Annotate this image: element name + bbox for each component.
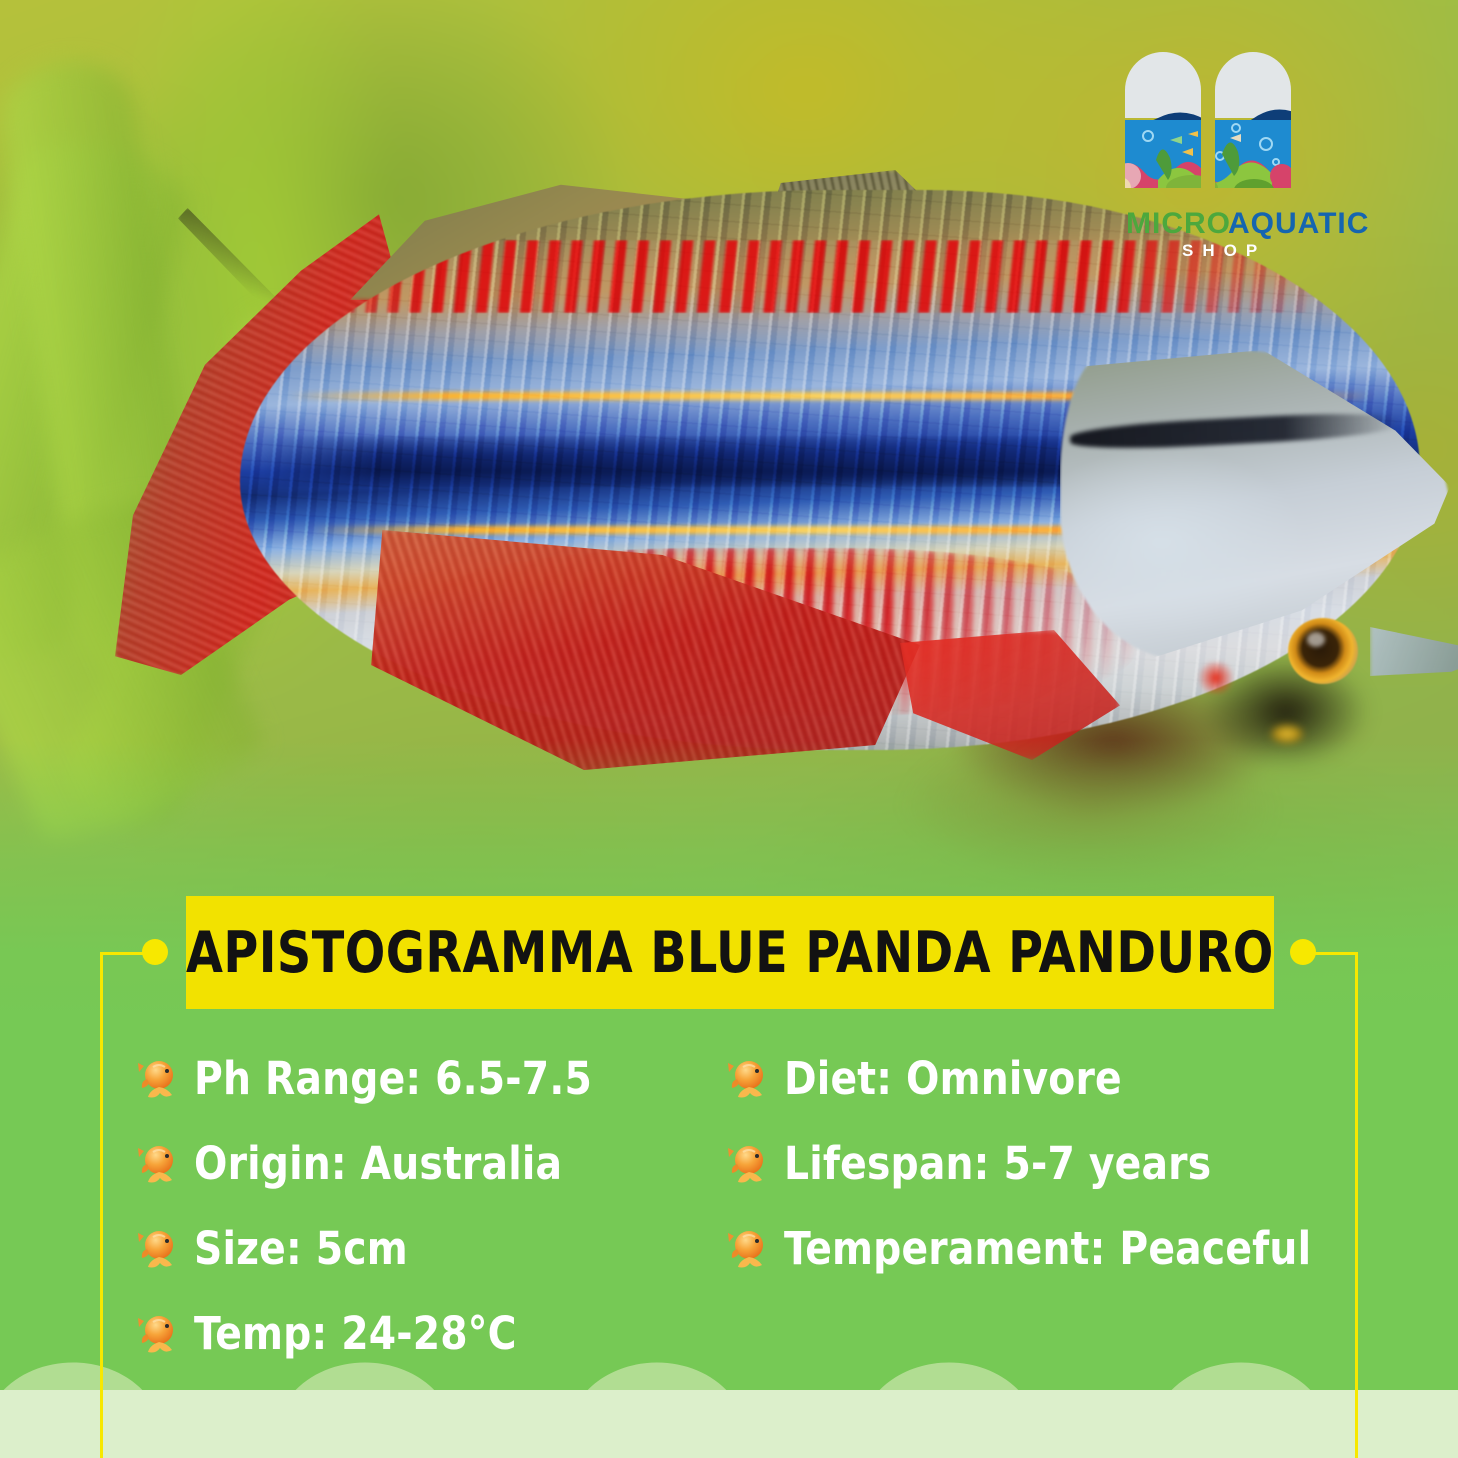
- logo-text-micro: MICRO: [1126, 207, 1231, 240]
- fish-eye: [1288, 618, 1358, 684]
- spec-item-ph-range: Ph Range: 6.5-7.5: [136, 1036, 726, 1121]
- bracket-dot-left: [142, 939, 168, 965]
- spec-label-temperament: Temperament: Peaceful: [784, 1222, 1311, 1275]
- spec-label-diet: Diet: Omnivore: [784, 1052, 1122, 1105]
- orange-fish-icon: [726, 1142, 770, 1186]
- logo-text-shop: SHOP: [1182, 241, 1266, 258]
- title-banner: APISTOGRAMMA BLUE PANDA PANDURO: [186, 896, 1274, 1009]
- spec-item-size: Size: 5cm: [136, 1206, 726, 1291]
- spec-label-size: Size: 5cm: [194, 1222, 408, 1275]
- spec-item-origin: Origin: Australia: [136, 1121, 726, 1206]
- orange-fish-icon: [136, 1227, 180, 1271]
- spec-item-diet: Diet: Omnivore: [726, 1036, 1316, 1121]
- spec-label-lifespan: Lifespan: 5-7 years: [784, 1137, 1211, 1190]
- brand-logo[interactable]: MICRO AQUATIC SHOP: [1070, 28, 1400, 258]
- spec-item-temperament: Temperament: Peaceful: [726, 1206, 1316, 1291]
- wave-decoration: [0, 1348, 1458, 1458]
- underwater-m-logo-icon: MICRO AQUATIC SHOP: [1070, 28, 1400, 258]
- bracket-line-left-bottom: [100, 1348, 103, 1458]
- cheek-red-spot: [1196, 662, 1236, 694]
- wave-layer-base: [0, 1390, 1458, 1458]
- spec-label-origin: Origin: Australia: [194, 1137, 562, 1190]
- orange-fish-icon: [136, 1142, 180, 1186]
- spec-item-lifespan: Lifespan: 5-7 years: [726, 1121, 1316, 1206]
- logo-text-aquatic: AQUATIC: [1228, 207, 1369, 240]
- orange-fish-icon: [136, 1057, 180, 1101]
- page-title: APISTOGRAMMA BLUE PANDA PANDURO: [186, 920, 1274, 986]
- orange-fish-icon: [726, 1227, 770, 1271]
- bracket-dot-right: [1290, 939, 1316, 965]
- fish-eye-highlight: [1307, 632, 1325, 647]
- spec-label-ph-range: Ph Range: 6.5-7.5: [194, 1052, 592, 1105]
- specs-grid: Ph Range: 6.5-7.5 Diet: Omnivore: [136, 1036, 1316, 1376]
- orange-fish-icon: [726, 1057, 770, 1101]
- bracket-line-right-bottom: [1355, 1348, 1358, 1458]
